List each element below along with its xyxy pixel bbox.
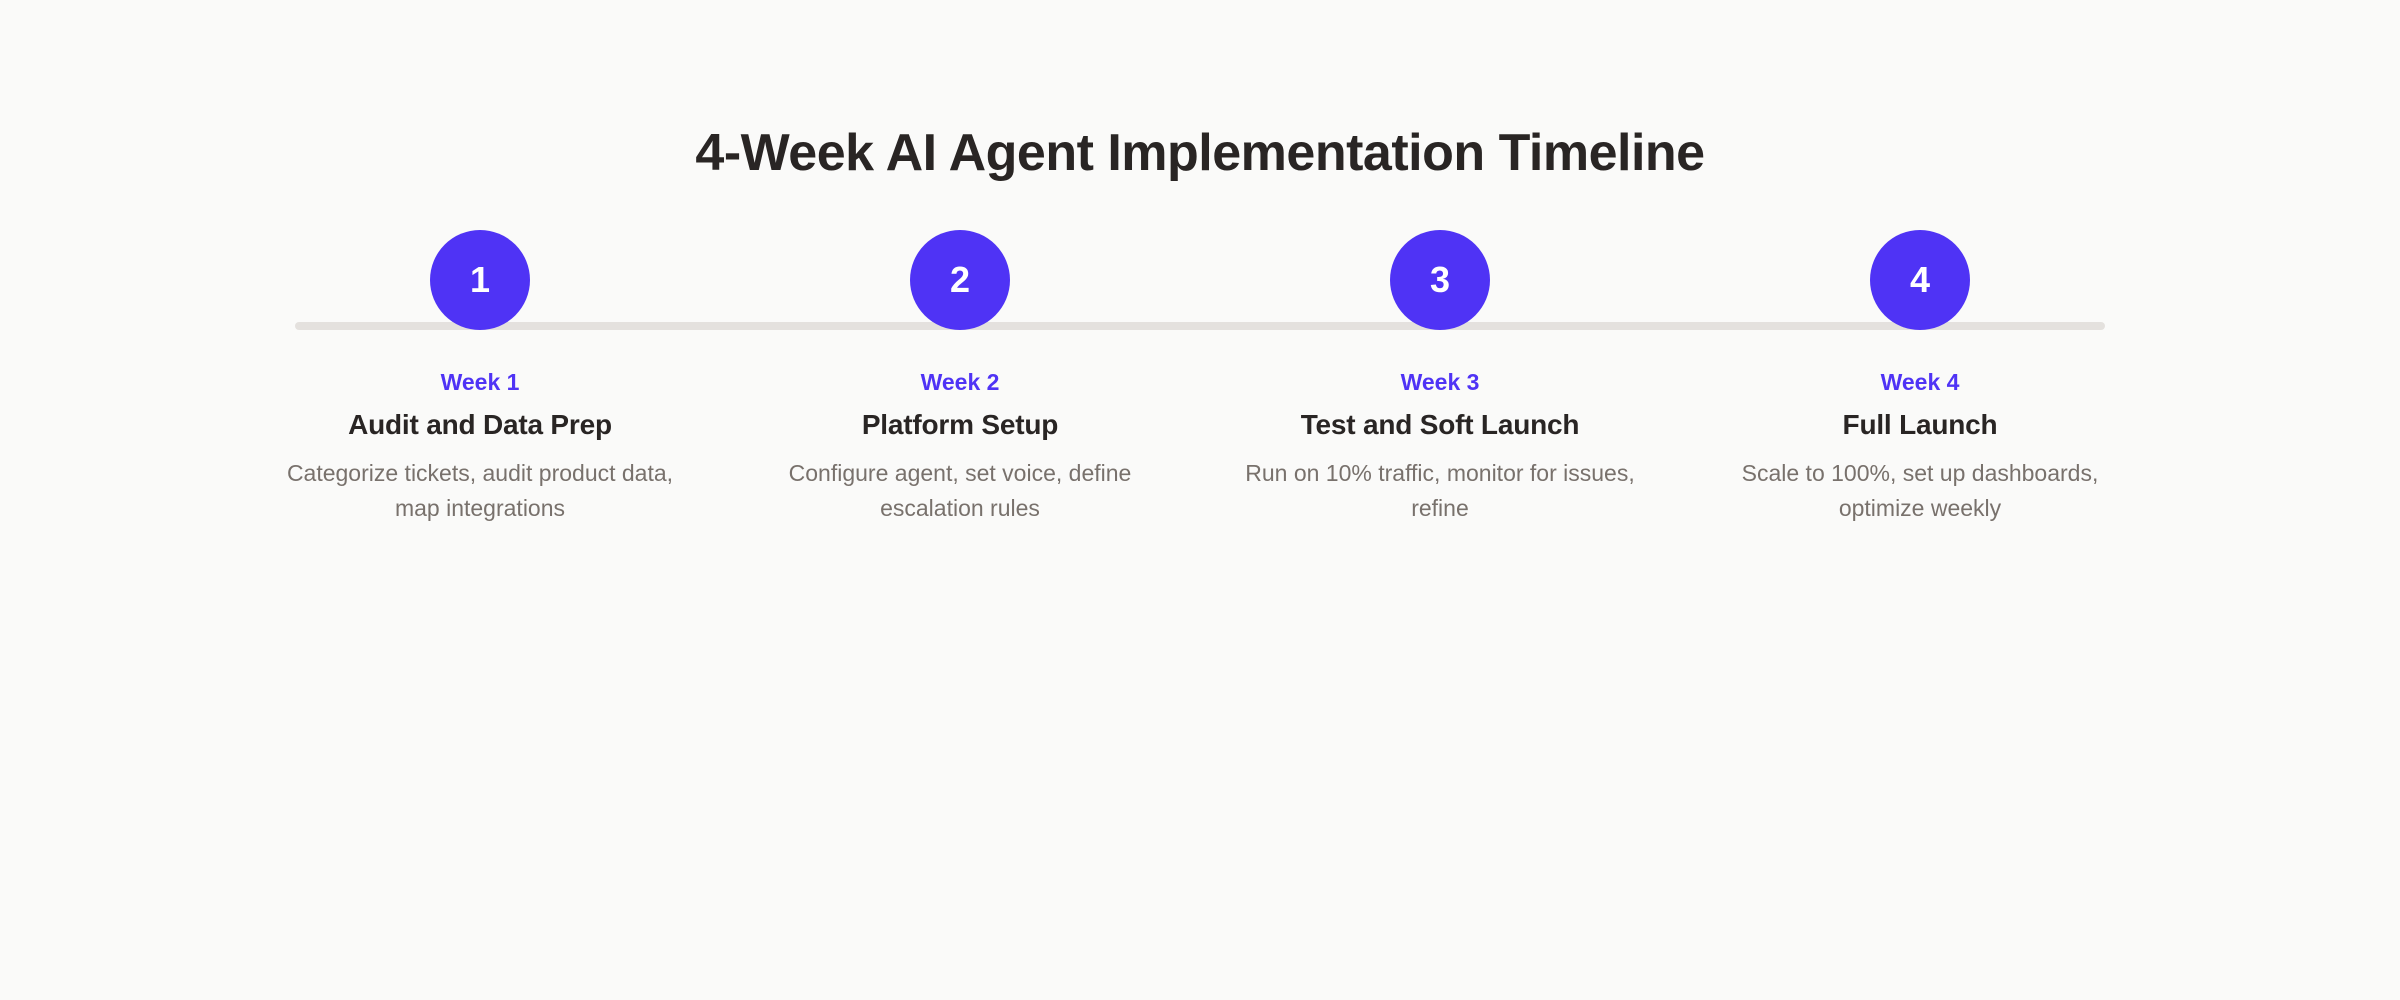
week-label-1: Week 1 [260,368,700,397]
timeline-step-3: Week 3 Test and Soft Launch Run on 10% t… [1200,368,1680,526]
timeline-node-slot-1: 1 [240,230,720,350]
week-label-3: Week 3 [1220,368,1660,397]
step-description-3: Run on 10% traffic, monitor for issues, … [1230,456,1650,526]
timeline-step-columns: Week 1 Audit and Data Prep Categorize ti… [240,368,2160,526]
timeline-step-1: Week 1 Audit and Data Prep Categorize ti… [240,368,720,526]
timeline-node-slot-3: 3 [1200,230,1680,350]
timeline-node-number-1: 1 [470,262,490,298]
timeline-step-4: Week 4 Full Launch Scale to 100%, set up… [1680,368,2160,526]
step-description-4: Scale to 100%, set up dashboards, optimi… [1710,456,2130,526]
timeline-node-1[interactable]: 1 [430,230,530,330]
timeline-node-number-2: 2 [950,262,970,298]
step-description-1: Categorize tickets, audit product data, … [270,456,690,526]
week-label-2: Week 2 [740,368,1180,397]
step-title-1: Audit and Data Prep [260,407,700,442]
step-title-4: Full Launch [1700,407,2140,442]
timeline-step-2: Week 2 Platform Setup Configure agent, s… [720,368,1200,526]
timeline-node-row: 1 2 3 4 [240,230,2160,350]
timeline-node-4[interactable]: 4 [1870,230,1970,330]
timeline-node-2[interactable]: 2 [910,230,1010,330]
timeline-node-number-3: 3 [1430,262,1450,298]
timeline-infographic: 4-Week AI Agent Implementation Timeline … [0,0,2400,1000]
timeline-node-slot-4: 4 [1680,230,2160,350]
timeline-node-3[interactable]: 3 [1390,230,1490,330]
step-title-3: Test and Soft Launch [1220,407,1660,442]
week-label-4: Week 4 [1700,368,2140,397]
page-title: 4-Week AI Agent Implementation Timeline [0,123,2400,184]
timeline-band: 1 2 3 4 [0,230,2400,350]
timeline-node-slot-2: 2 [720,230,1200,350]
step-description-2: Configure agent, set voice, define escal… [750,456,1170,526]
timeline-node-number-4: 4 [1910,262,1930,298]
step-title-2: Platform Setup [740,407,1180,442]
